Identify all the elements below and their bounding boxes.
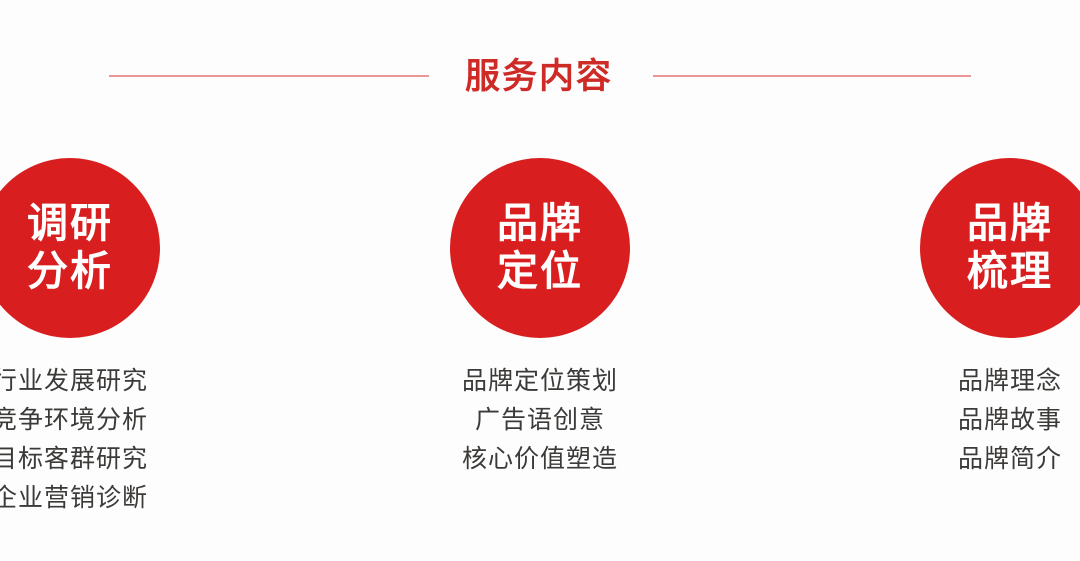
service-circle-positioning[interactable]: 品牌 定位 (450, 158, 630, 338)
list-item: 品牌故事 (958, 401, 1062, 440)
service-column-positioning: 品牌 定位 品牌定位策划 广告语创意 核心价值塑造 (305, 158, 775, 558)
list-item: 企业营销诊断 (0, 479, 148, 518)
service-item-list-positioning: 品牌定位策划 广告语创意 核心价值塑造 (462, 362, 618, 479)
list-item: 行业发展研究 (0, 362, 148, 401)
list-item: 品牌简介 (958, 440, 1062, 479)
service-circle-structuring[interactable]: 品牌 梳理 (920, 158, 1080, 338)
list-item: 竞争环境分析 (0, 401, 148, 440)
circle-label-line1: 品牌 (967, 200, 1053, 248)
service-circle-research[interactable]: 调研 分析 (0, 158, 160, 338)
circle-label-line2: 定位 (497, 248, 583, 296)
circle-label-line2: 梳理 (967, 248, 1053, 296)
title-rule-right (653, 75, 971, 77)
service-item-list-research: 行业发展研究 竞争环境分析 目标客群研究 企业营销诊断 (0, 362, 148, 518)
list-item: 品牌定位策划 (462, 362, 618, 401)
list-item: 核心价值塑造 (462, 440, 618, 479)
service-column-research: 调研 分析 行业发展研究 竞争环境分析 目标客群研究 企业营销诊断 (0, 158, 305, 558)
page-title: 服务内容 (465, 59, 613, 94)
circle-label-line2: 分析 (27, 248, 113, 296)
list-item: 广告语创意 (475, 401, 605, 440)
service-columns: 调研 分析 行业发展研究 竞争环境分析 目标客群研究 企业营销诊断 品牌 定位 … (0, 158, 1080, 558)
circle-label-line1: 品牌 (497, 200, 583, 248)
circle-label-line1: 调研 (27, 200, 113, 248)
page-header: 服务内容 (0, 48, 1080, 104)
service-item-list-structuring: 品牌理念 品牌故事 品牌简介 (958, 362, 1062, 479)
list-item: 品牌理念 (958, 362, 1062, 401)
list-item: 目标客群研究 (0, 440, 148, 479)
title-rule-left (109, 75, 429, 77)
service-column-structuring: 品牌 梳理 品牌理念 品牌故事 品牌简介 (775, 158, 1080, 558)
